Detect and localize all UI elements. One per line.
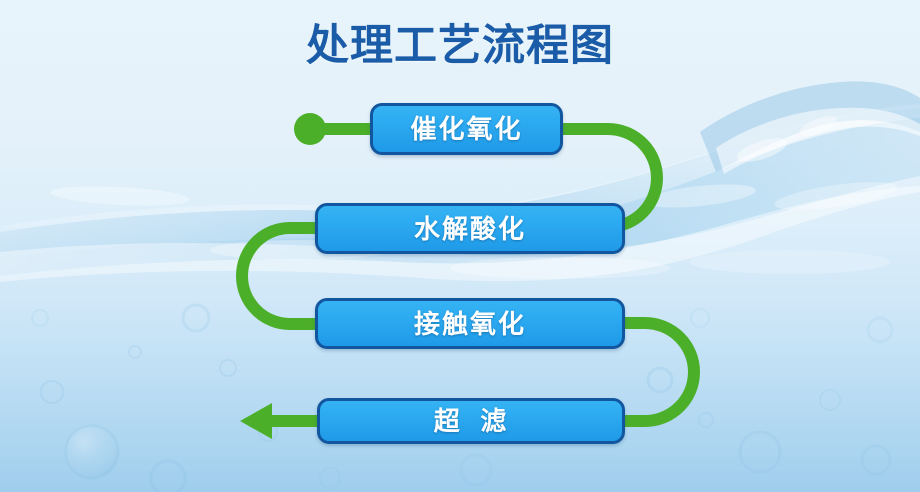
process-flow-diagram: 处理工艺流程图 催化氧化 水解酸化 接触氧化 超 滤 — [0, 0, 920, 492]
process-node-label: 接触氧化 — [414, 311, 526, 337]
start-dot-icon — [294, 113, 326, 145]
process-node-catalytic-oxidation[interactable]: 催化氧化 — [370, 103, 563, 155]
process-node-label: 超 滤 — [434, 408, 508, 434]
arrow-left-icon — [240, 403, 272, 439]
process-node-contact-oxidation[interactable]: 接触氧化 — [315, 298, 625, 349]
process-node-hydrolysis-acidification[interactable]: 水解酸化 — [315, 203, 625, 254]
connector-node2-node3 — [621, 323, 694, 421]
connector-node1-node2 — [242, 228, 319, 324]
process-node-ultrafiltration[interactable]: 超 滤 — [317, 398, 625, 444]
process-node-label: 水解酸化 — [414, 216, 526, 242]
process-node-label: 催化氧化 — [410, 116, 522, 142]
